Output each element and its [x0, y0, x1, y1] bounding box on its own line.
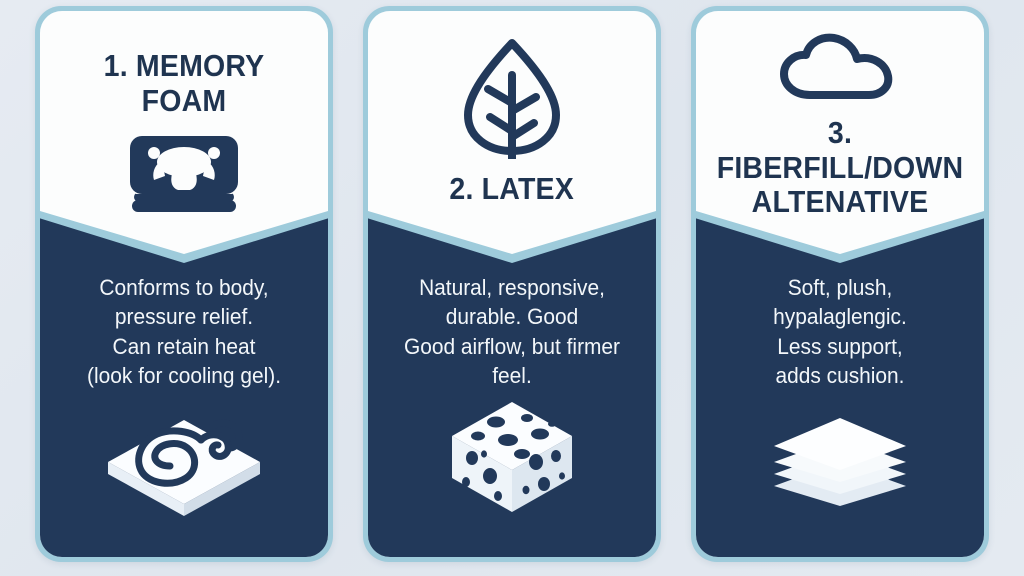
memory-foam-pillow-icon	[120, 132, 248, 225]
card-top-panel: 3. FIBERFILL/DOWN ALTENATIVE	[696, 11, 984, 254]
card-title: 1. MEMORY FOAM	[52, 49, 317, 118]
card-top-panel: 2. LATEX	[368, 11, 656, 254]
porous-latex-cube-icon	[444, 396, 580, 525]
card-title: 2. LATEX	[441, 172, 584, 207]
card-inner: 2. LATEX Natural, responsive, durable. G…	[368, 11, 656, 557]
card-header: 3. FIBERFILL/DOWN ALTENATIVE	[696, 11, 984, 220]
infographic-root: 1. MEMORY FOAM	[0, 0, 1024, 576]
card-latex[interactable]: 2. LATEX Natural, responsive, durable. G…	[363, 6, 661, 562]
card-description: Natural, responsive, durable. Good Good …	[375, 273, 649, 390]
card-inner: 1. MEMORY FOAM	[40, 11, 328, 557]
card-title: 3. FIBERFILL/DOWN ALTENATIVE	[708, 116, 973, 220]
card-header: 1. MEMORY FOAM	[40, 11, 328, 225]
card-header: 2. LATEX	[368, 11, 656, 207]
card-description: Soft, plush, hypalaglengic. Less support…	[703, 273, 977, 390]
card-fiberfill-down[interactable]: 3. FIBERFILL/DOWN ALTENATIVE Soft, plush…	[691, 6, 989, 562]
stacked-layers-icon	[766, 410, 914, 515]
leaf-icon	[452, 33, 572, 164]
card-description: Conforms to body, pressure relief. Can r…	[47, 273, 321, 390]
cloud-icon	[776, 31, 904, 110]
card-memory-foam[interactable]: 1. MEMORY FOAM	[35, 6, 333, 562]
foam-block-swirl-icon	[100, 404, 268, 527]
card-top-panel: 1. MEMORY FOAM	[40, 11, 328, 254]
card-inner: 3. FIBERFILL/DOWN ALTENATIVE Soft, plush…	[696, 11, 984, 557]
